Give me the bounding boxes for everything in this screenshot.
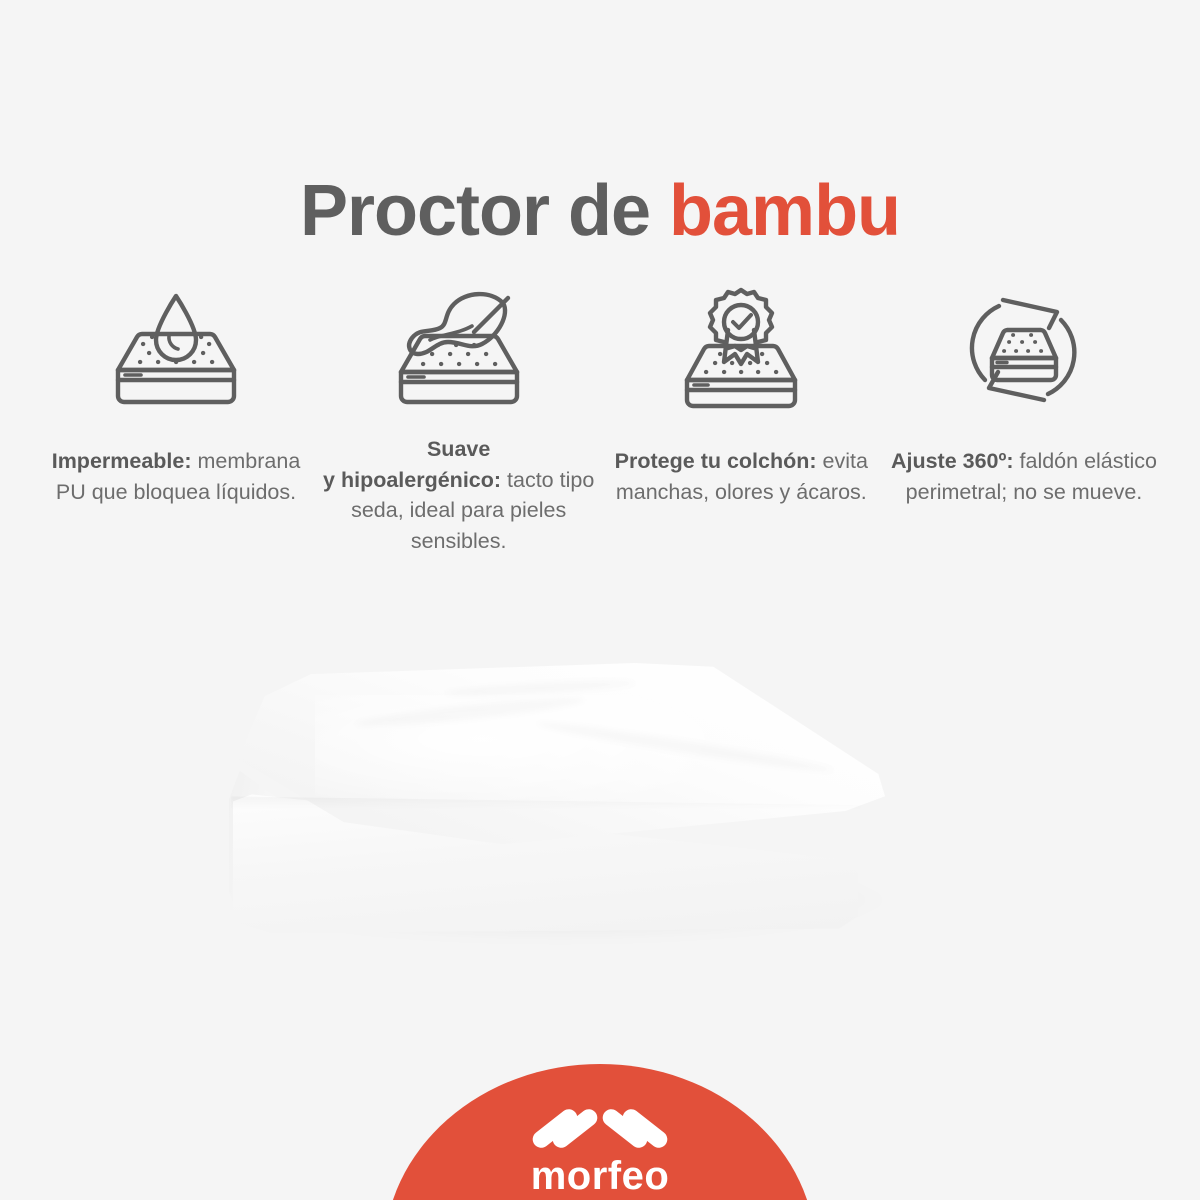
quality-badge-on-mattress-icon <box>668 280 814 420</box>
feature-lead: Ajuste 360º: <box>891 449 1014 473</box>
product-image <box>205 645 905 955</box>
feature-lead-line-2: y hipoalergénico: <box>323 468 501 492</box>
feather-on-mattress-icon <box>386 280 532 420</box>
feature-item-protege-colchon: Protege tu colchón: evita manchas, olore… <box>605 280 877 507</box>
feature-lead: Protege tu colchón: <box>615 449 817 473</box>
waterdrop-on-mattress-icon <box>103 280 249 420</box>
page-title: Proctor de bambu <box>0 172 1200 251</box>
feature-caption-impermeable: Impermeable: membrana PU que bloquea líq… <box>40 446 312 507</box>
brand-badge: morfeo <box>384 1064 816 1200</box>
feature-item-suave-hipoalergenico: Suave y hipoalergénico: tacto tipo seda,… <box>323 280 595 556</box>
feature-list: Impermeable: membrana PU que bloquea líq… <box>40 280 1160 556</box>
feature-caption-suave-hipoalergenico: Suave y hipoalergénico: tacto tipo seda,… <box>323 434 595 556</box>
feature-caption-protege-colchon: Protege tu colchón: evita manchas, olore… <box>605 446 877 507</box>
feature-item-impermeable: Impermeable: membrana PU que bloquea líq… <box>40 280 312 507</box>
feature-caption-ajuste-360: Ajuste 360º: faldón elástico perimetral;… <box>888 446 1160 507</box>
page-title-accent: bambu <box>669 171 900 251</box>
feature-lead-line-1: Suave <box>427 437 490 461</box>
brand-lockup: morfeo <box>384 1100 816 1196</box>
morfeo-m-logo-icon <box>525 1100 675 1150</box>
infographic-page: Proctor de bambu <box>0 0 1200 1200</box>
feature-lead: Impermeable: <box>52 449 192 473</box>
page-title-part-1: Proctor de <box>300 171 669 251</box>
brand-name: morfeo <box>531 1156 670 1196</box>
feature-item-ajuste-360: Ajuste 360º: faldón elástico perimetral;… <box>888 280 1160 507</box>
rotation-360-mattress-icon <box>951 280 1097 420</box>
